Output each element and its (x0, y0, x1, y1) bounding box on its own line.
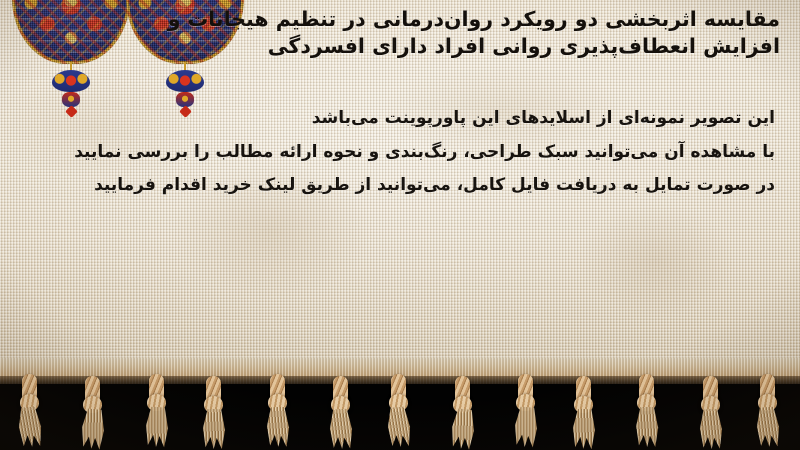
fringe-tassel (752, 374, 782, 448)
fringe-tassel (631, 374, 661, 448)
tassel-skirt-icon (266, 407, 291, 447)
tassel-skirt-icon (16, 406, 44, 448)
tassel-skirt-icon (449, 408, 477, 450)
tassel-skirt-icon (144, 406, 170, 447)
fringe-tassel (568, 376, 598, 450)
slide-body-line-3: در صورت تمایل به دریافت فایل کامل، می‌تو… (23, 175, 775, 195)
slide-canvas: مقایسه اثربخشی دو رویکرد روان‌درمانی در … (0, 0, 800, 450)
fringe-tassel (198, 376, 228, 450)
tassel-skirt-icon (328, 408, 354, 449)
slide-body-line-1: این تصویر نمونه‌ای از اسلایدهای این پاور… (23, 108, 775, 128)
slide-body-line-2: با مشاهده آن می‌توانید سبک طراحی، رنگ‌بن… (23, 142, 775, 162)
fringe-tassel (325, 376, 355, 450)
slide-title: مقایسه اثربخشی دو رویکرد روان‌درمانی در … (210, 6, 780, 59)
tassel-skirt-icon (513, 406, 540, 448)
medallion-body-icon (12, 0, 130, 64)
fringe-tassel (262, 374, 292, 448)
medallion-pendant-large-icon (166, 70, 204, 92)
tassel-skirt-icon (635, 407, 659, 447)
persian-medallion-ornament-left (12, 0, 130, 96)
fringe-tassel (77, 376, 107, 450)
tassel-skirt-icon (698, 409, 723, 450)
fringe-tassel (695, 376, 725, 450)
fringe-tassel (141, 374, 171, 448)
slide-title-line-1: مقایسه اثربخشی دو رویکرد روان‌درمانی در … (210, 6, 780, 33)
fringe-tassel (447, 376, 477, 450)
tassel-skirt-icon (755, 406, 782, 448)
fringe-tassel (510, 374, 540, 448)
fringe-tassel (383, 374, 413, 448)
tassel-skirt-icon (571, 409, 596, 450)
medallion-pendant-large-icon (52, 70, 90, 92)
slide-title-line-2: افزایش انعطاف‌پذیری روانی افراد دارای اف… (210, 33, 780, 60)
fringe-tassel (14, 374, 44, 448)
tassel-skirt-icon (385, 406, 412, 448)
slide-body: این تصویر نمونه‌ای از اسلایدهای این پاور… (23, 108, 775, 195)
tassel-skirt-icon (202, 409, 227, 449)
tassel-skirt-icon (80, 408, 107, 450)
